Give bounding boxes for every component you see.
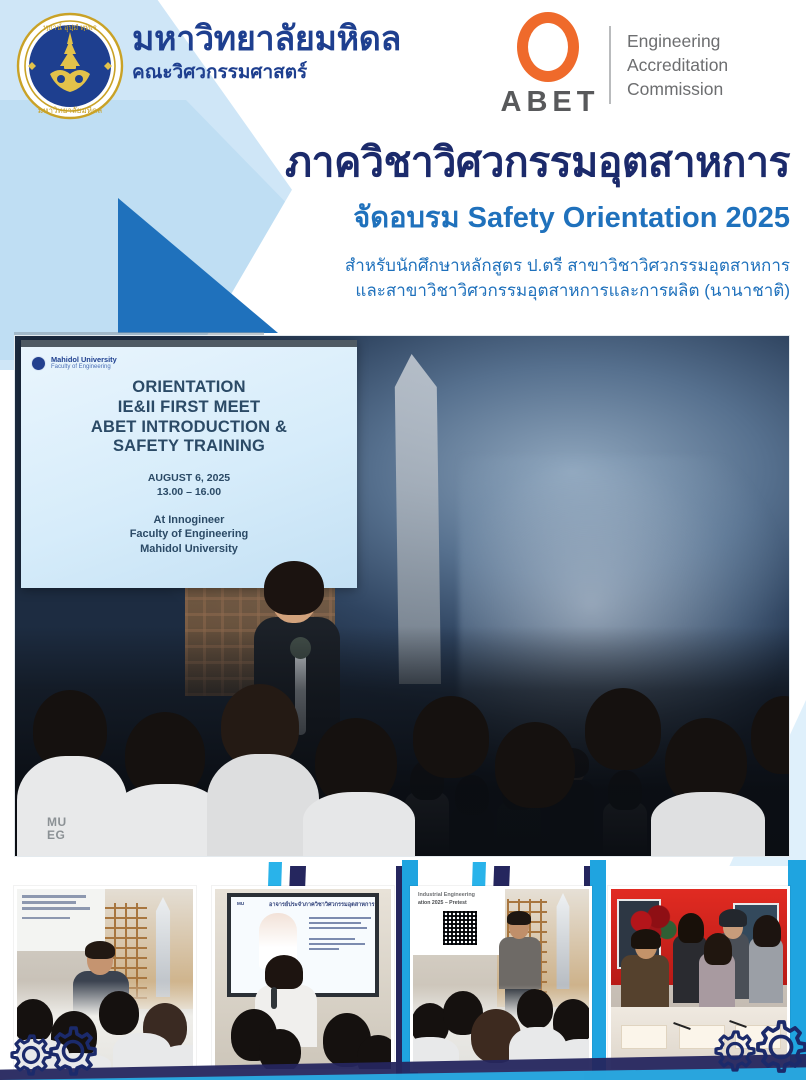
slide-title-line-3: ABET INTRODUCTION & xyxy=(31,418,347,438)
slide-brand-line-1: Mahidol University xyxy=(51,355,117,364)
thumb-2-photo: MU อาจารย์ประจำภาควิชาวิศวกรรมอุตสาหการ xyxy=(215,889,391,1069)
list-item[interactable]: MU อาจารย์ประจำภาควิชาวิศวกรรมอุตสาหการ xyxy=(212,886,394,1072)
abet-logo: ABET Engineering Accreditation Commissio… xyxy=(490,14,795,116)
slide-title: ORIENTATION IE&II FIRST MEET ABET INTROD… xyxy=(31,378,347,457)
mahidol-university-seal-icon: ทฺยาน์ํ อุปฺมํ ทฺทเร มหาวิทยาลัยมหิดล xyxy=(14,10,126,122)
svg-text:มหาวิทยาลัยมหิดล: มหาวิทยาลัยมหิดล xyxy=(38,106,102,115)
abet-commission-text: Engineering Accreditation Commission xyxy=(627,29,728,101)
audience-area xyxy=(15,626,790,856)
list-item[interactable]: Industrial Engineering ation 2025 – Pret… xyxy=(410,886,592,1072)
svg-text:ทฺยาน์ํ อุปฺมํ ทฺทเร: ทฺยาน์ํ อุปฺมํ ทฺทเร xyxy=(43,22,97,32)
slide-title-line-1: ORIENTATION xyxy=(31,378,347,398)
slide-title-line-2: IE&II FIRST MEET xyxy=(31,398,347,418)
thumb2-slide-brand: MU xyxy=(237,901,244,906)
slide-date: AUGUST 6, 2025 xyxy=(31,471,347,485)
page-title: ภาควิชาวิศวกรรมอุตสาหการ xyxy=(120,138,790,186)
title-block: ภาควิชาวิศวกรรมอุตสาหการ จัดอบรม Safety … xyxy=(120,138,790,303)
slide-brand-row: Mahidol University Faculty of Engineerin… xyxy=(31,355,347,372)
faculty-name: คณะวิศวกรรมศาสตร์ xyxy=(132,63,462,84)
slide-title-line-4: SAFETY TRAINING xyxy=(31,437,347,457)
slide-time: 13.00 – 16.00 xyxy=(31,485,347,499)
thumb-3-photo: Industrial Engineering ation 2025 – Pret… xyxy=(413,889,589,1069)
gear-icon xyxy=(44,1024,98,1078)
university-wordmark: มหาวิทยาลัยมหิดล คณะวิศวกรรมศาสตร์ xyxy=(132,22,462,84)
university-name: มหาวิทยาลัยมหิดล xyxy=(132,22,462,58)
mu-eg-badge: MU EG xyxy=(47,816,67,842)
abet-line-1: Engineering xyxy=(627,29,728,53)
thumb3-slide-line-1: Industrial Engineering xyxy=(418,892,475,898)
slide-venue: At Innogineer Faculty of Engineering Mah… xyxy=(31,513,347,558)
thumb3-slide-line-2: ation 2025 – Pretest xyxy=(418,900,467,906)
seated-person xyxy=(621,955,669,1013)
slide-venue-line-3: Mahidol University xyxy=(31,542,347,557)
abet-wordmark: ABET xyxy=(490,86,605,119)
slide-brand-line-2: Faculty of Engineering xyxy=(51,364,117,372)
poster-header: ทฺยาน์ํ อุปฺมํ ทฺทเร มหาวิทยาลัยมหิดล มห… xyxy=(0,0,806,130)
gear-decoration-left xyxy=(8,1024,104,1076)
audience-note-line-1: สำหรับนักศึกษาหลักสูตร ป.ตรี สาขาวิชาวิศ… xyxy=(120,254,790,279)
abet-ring-icon xyxy=(517,12,579,82)
slide-datetime: AUGUST 6, 2025 13.00 – 16.00 xyxy=(31,471,347,499)
abet-mark: ABET xyxy=(490,12,605,119)
abet-line-2: Accreditation xyxy=(627,53,728,77)
slide-venue-line-1: At Innogineer xyxy=(31,513,347,528)
abet-line-3: Commission xyxy=(627,77,728,101)
thumb2-slide-headline: อาจารย์ประจำภาควิชาวิศวกรรมอุตสาหการ xyxy=(269,901,375,909)
qr-code-icon xyxy=(443,911,477,945)
abet-divider xyxy=(609,26,611,104)
audience-note: สำหรับนักศึกษาหลักสูตร ป.ตรี สาขาวิชาวิศ… xyxy=(120,254,790,303)
gear-decoration-right xyxy=(712,1018,806,1070)
main-event-photo: Mahidol University Faculty of Engineerin… xyxy=(14,335,790,857)
slide-venue-line-2: Faculty of Engineering xyxy=(31,527,347,542)
poster-canvas: ทฺยาน์ํ อุปฺมํ ทฺทเร มหาวิทยาลัยมหิดล มห… xyxy=(0,0,806,1080)
projection-screen: Mahidol University Faculty of Engineerin… xyxy=(21,340,357,588)
event-subtitle: จัดอบรม Safety Orientation 2025 xyxy=(120,200,790,238)
gear-icon xyxy=(750,1018,806,1076)
cyan-strip-mid xyxy=(590,860,606,1080)
slide-seal-icon xyxy=(31,356,46,371)
audience-note-line-2: และสาขาวิชาวิศวกรรมอุตสาหการและการผลิต (… xyxy=(120,279,790,304)
